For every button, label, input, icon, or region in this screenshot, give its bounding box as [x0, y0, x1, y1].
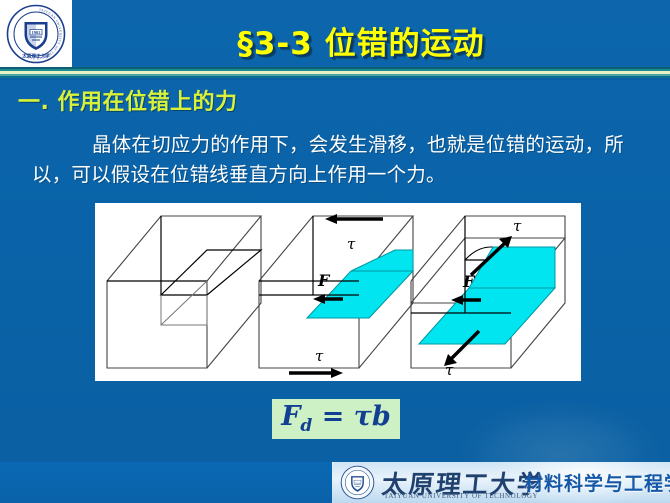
formula-lhs: F	[281, 401, 300, 432]
footer-university-name-en: TAIYUAN UNIVERSITY OF TECHNOLOGY	[384, 492, 538, 500]
tau-label-bottom: τ	[315, 347, 324, 365]
figure-dislocation-diagrams: τ F τ	[95, 203, 581, 381]
tau-label-upper: τ	[513, 217, 522, 235]
tau-label-top: τ	[347, 235, 356, 253]
footer-seal-icon	[340, 465, 375, 500]
body-paragraph: 晶体在切应力的作用下，会发生滑移，也就是位错的运动，所以，可以假设在位错线垂直方…	[32, 130, 640, 190]
formula-text: Fd = τb	[281, 403, 391, 435]
formula-subscript: d	[300, 416, 312, 436]
formula-rhs: τb	[354, 401, 391, 432]
tau-label-lower: τ	[445, 361, 454, 379]
force-label-2: F	[462, 272, 476, 291]
formula-equals: =	[322, 401, 345, 432]
formula-box: Fd = τb	[272, 399, 400, 439]
slide-root: TAIYUAN UNIVERSITY OF TECHNOLOGY 1902 太原…	[0, 0, 670, 503]
force-label: F	[317, 271, 331, 290]
section-subheading: 一. 作用在位错上的力	[18, 84, 238, 116]
page-title: §3-3 位错的运动	[0, 18, 670, 63]
footer-banner: 太原理工大学 TAIYUAN UNIVERSITY OF TECHNOLOGY …	[0, 462, 670, 503]
divider	[0, 67, 670, 80]
footer-department-name: 材料科学与工程学院	[524, 469, 670, 496]
footer-left-fill	[0, 462, 338, 503]
